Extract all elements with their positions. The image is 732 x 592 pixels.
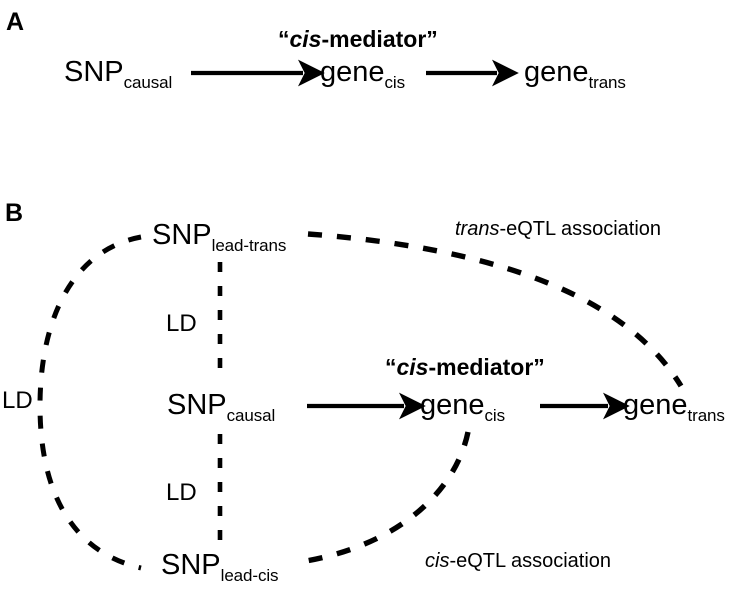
panel-a-node-snp-causal: SNPcausal <box>64 58 172 87</box>
ld-label-lower: LD <box>166 481 197 505</box>
node-base: gene <box>524 56 589 88</box>
quote-close: ” <box>426 26 438 52</box>
assoc-italic-cis: cis <box>425 550 449 572</box>
node-subscript: trans <box>688 406 725 425</box>
mediator-rest: -mediator <box>428 354 533 380</box>
quote-open: “ <box>278 26 290 52</box>
assoc-italic-trans: trans <box>455 218 499 240</box>
node-base: gene <box>420 389 485 421</box>
node-subscript: causal <box>227 406 276 425</box>
node-base: SNP <box>167 389 227 421</box>
panel-b-node-snp-lead-trans: SNPlead-trans <box>152 221 286 250</box>
mediator-italic-cis: cis <box>290 26 322 52</box>
node-subscript: lead-trans <box>212 236 287 255</box>
quote-open: “ <box>385 354 397 380</box>
assoc-rest: -eQTL association <box>499 218 661 240</box>
panel-a-node-gene-cis: genecis <box>320 58 405 87</box>
cis-eqtl-curve-dashed <box>300 432 468 562</box>
panel-b-node-snp-causal: SNPcausal <box>167 391 275 420</box>
panel-b-node-gene-cis: genecis <box>420 391 505 420</box>
panel-b-node-gene-trans: genetrans <box>623 391 725 420</box>
ld-label-upper: LD <box>166 312 197 336</box>
trans-eqtl-association-label: trans-eQTL association <box>455 219 661 239</box>
mediator-rest: -mediator <box>321 26 426 52</box>
cis-eqtl-association-label: cis-eQTL association <box>425 551 611 571</box>
node-subscript: lead-cis <box>221 566 279 585</box>
node-base: SNP <box>161 549 221 581</box>
mediator-italic-cis: cis <box>397 354 429 380</box>
panel-a-mediator-caption: “cis-mediator” <box>278 28 438 51</box>
quote-close: ” <box>533 354 545 380</box>
node-subscript: causal <box>124 73 173 92</box>
node-subscript: trans <box>589 73 626 92</box>
node-base: gene <box>623 389 688 421</box>
assoc-rest: -eQTL association <box>449 550 611 572</box>
ld-label-left: LD <box>2 389 33 413</box>
panel-a-node-gene-trans: genetrans <box>524 58 626 87</box>
panel-b-letter: B <box>5 201 23 226</box>
node-subscript: cis <box>485 406 505 425</box>
figure-canvas: A “cis-mediator” SNPcausal genecis genet… <box>0 0 732 592</box>
node-base: SNP <box>64 56 124 88</box>
panel-a-letter: A <box>6 10 24 35</box>
node-base: gene <box>320 56 385 88</box>
panel-b-mediator-caption: “cis-mediator” <box>385 356 545 379</box>
node-base: SNP <box>152 219 212 251</box>
panel-b-node-snp-lead-cis: SNPlead-cis <box>161 551 278 580</box>
node-subscript: cis <box>385 73 405 92</box>
ld-outer-left-arc-dashed <box>40 237 141 568</box>
